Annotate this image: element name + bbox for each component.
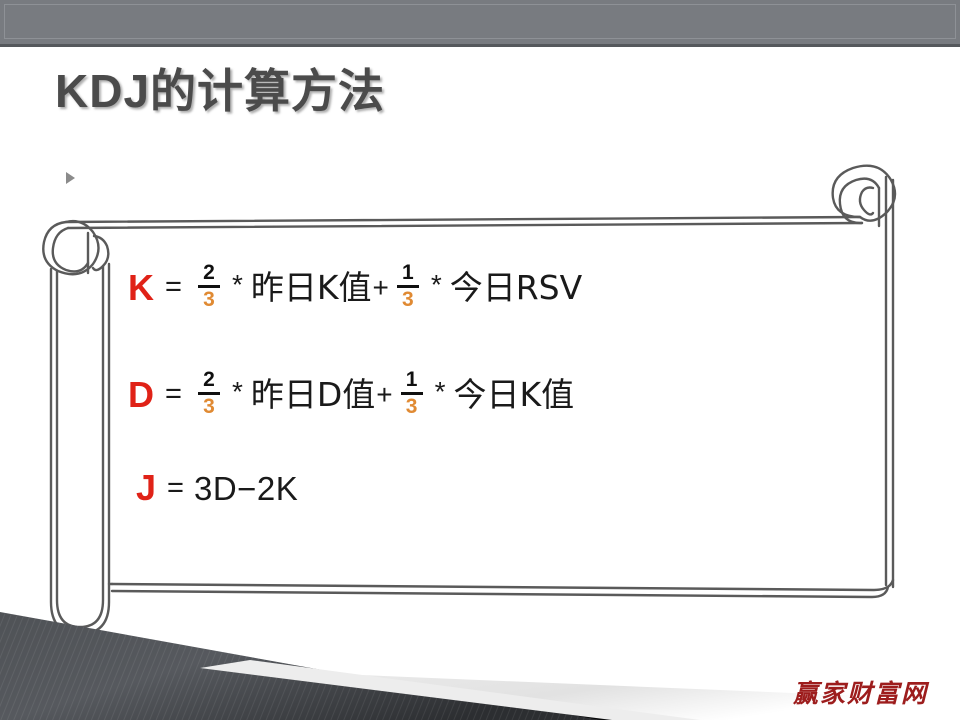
header-banner-inner-border: [4, 4, 956, 39]
watermark-logo: 赢家财富网: [793, 674, 928, 710]
page-title: KDJ的计算方法: [55, 55, 385, 121]
slide-canvas: KDJ的计算方法: [0, 0, 960, 720]
header-banner: [0, 0, 960, 47]
scroll-banner-icon: [0, 140, 960, 640]
